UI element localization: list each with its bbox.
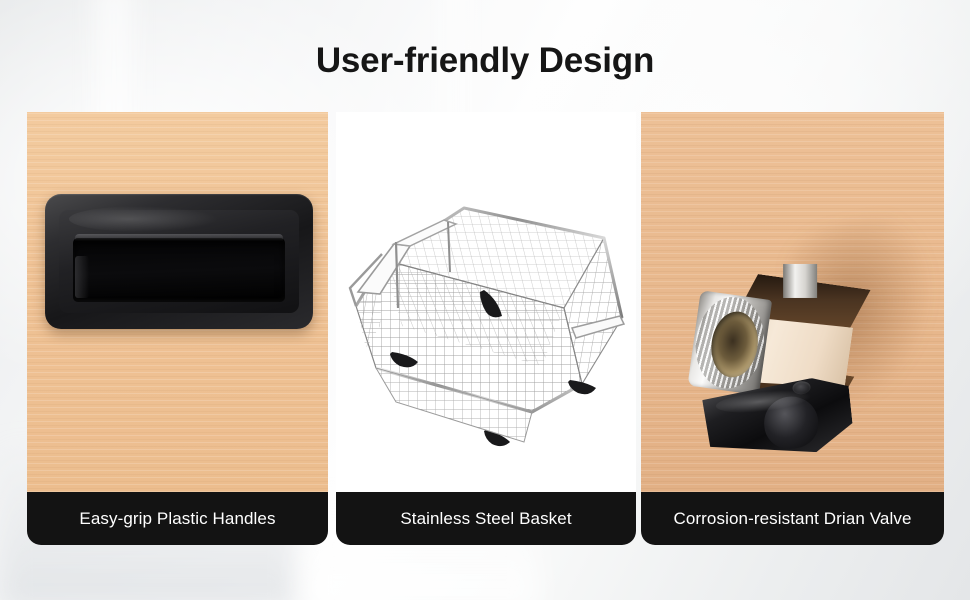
panel-caption-handles: Easy-grip Plastic Handles: [27, 492, 328, 545]
wire-basket-illustration: [336, 112, 636, 492]
panel-caption-basket: Stainless Steel Basket: [336, 492, 636, 545]
handle-gloss-highlight: [69, 206, 219, 232]
caption-text: Easy-grip Plastic Handles: [79, 509, 275, 529]
feature-panel-valve: Corrosion-resistant Drian Valve: [641, 112, 944, 545]
product-feature-graphic: User-friendly Design Easy-grip Plastic H…: [0, 0, 970, 600]
feature-panel-handles: Easy-grip Plastic Handles: [27, 112, 328, 545]
panel-image-valve: [641, 112, 944, 492]
plastic-handle-photo: [45, 194, 313, 329]
handle-lip: [75, 234, 283, 241]
handle-cavity: [73, 238, 285, 302]
panel-image-basket: [336, 112, 636, 492]
valve-stem: [783, 264, 817, 298]
drain-valve-photo: [682, 272, 881, 405]
panel-image-handles: [27, 112, 328, 492]
wire-basket-photo: [336, 112, 636, 492]
feature-panel-basket: Stainless Steel Basket: [336, 112, 636, 545]
valve-lever-handle: [698, 374, 855, 463]
caption-text: Corrosion-resistant Drian Valve: [673, 509, 911, 529]
page-title: User-friendly Design: [0, 40, 970, 82]
caption-text: Stainless Steel Basket: [400, 509, 571, 529]
handle-side-notch: [75, 256, 89, 298]
panel-caption-valve: Corrosion-resistant Drian Valve: [641, 492, 944, 545]
